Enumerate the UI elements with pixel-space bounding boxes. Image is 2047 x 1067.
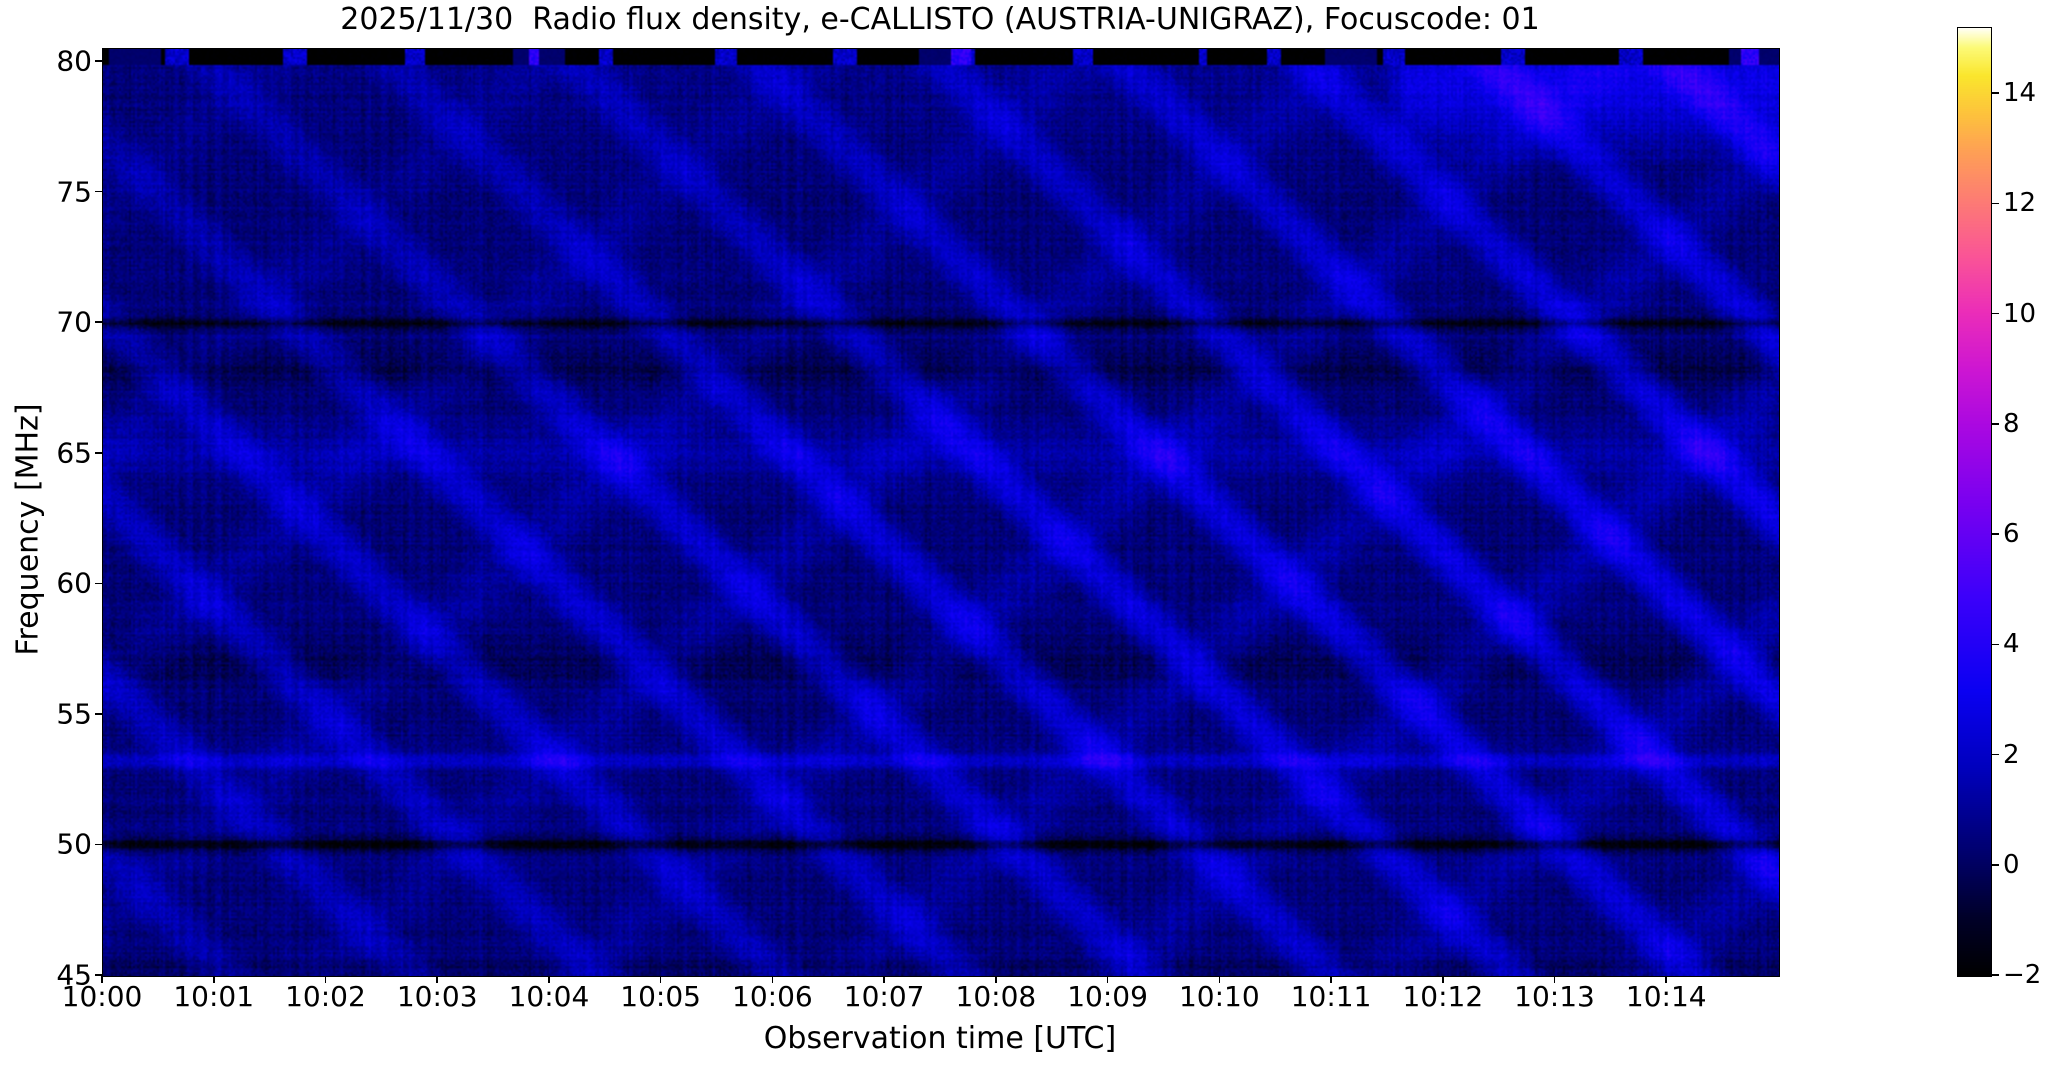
figure-canvas: 2025/11/30 Radio flux density, e-CALLIST… — [0, 0, 2047, 1067]
colorbar-tick-mark — [1992, 423, 1999, 425]
x-tick-mark — [1554, 976, 1556, 983]
x-tick-mark — [213, 976, 215, 983]
x-tick-mark — [883, 976, 885, 983]
spectrogram-axes[interactable] — [102, 48, 1780, 977]
y-tick-mark — [95, 452, 102, 454]
x-tick-mark — [1665, 976, 1667, 983]
y-tick-mark — [95, 321, 102, 323]
colorbar[interactable] — [1957, 27, 1992, 977]
colorbar-tick-label: 4 — [2003, 629, 2020, 659]
x-tick-mark — [1442, 976, 1444, 983]
colorbar-tick-label: 2 — [2003, 740, 2020, 770]
colorbar-tick-label: 10 — [2003, 299, 2036, 329]
x-tick-mark — [995, 976, 997, 983]
colorbar-tick-mark — [1992, 754, 1999, 756]
spectrogram-image — [103, 49, 1779, 976]
colorbar-tick-mark — [1992, 92, 1999, 94]
x-axis-label: Observation time [UTC] — [102, 1021, 1778, 1056]
colorbar-tick-mark — [1992, 974, 1999, 976]
colorbar-tick-label: 14 — [2003, 78, 2036, 108]
colorbar-tick-mark — [1992, 644, 1999, 646]
colorbar-gradient — [1958, 28, 1991, 976]
x-tick-mark — [325, 976, 327, 983]
y-tick-mark — [95, 713, 102, 715]
x-tick-mark — [1219, 976, 1221, 983]
colorbar-tick-mark — [1992, 203, 1999, 205]
x-tick-mark — [436, 976, 438, 983]
colorbar-tick-label: 0 — [2003, 850, 2020, 880]
chart-title: 2025/11/30 Radio flux density, e-CALLIST… — [0, 2, 1880, 37]
x-tick-mark — [1107, 976, 1109, 983]
x-tick-mark — [548, 976, 550, 983]
colorbar-tick-label: −2 — [2003, 960, 2041, 990]
y-axis-label: Frequency [MHz] — [11, 60, 46, 1000]
x-tick-label: 10:14 — [1586, 980, 1746, 1013]
x-tick-mark — [772, 976, 774, 983]
colorbar-tick-mark — [1992, 313, 1999, 315]
y-tick-mark — [95, 191, 102, 193]
colorbar-tick-label: 6 — [2003, 519, 2020, 549]
colorbar-tick-mark — [1992, 533, 1999, 535]
x-tick-mark — [101, 976, 103, 983]
y-tick-mark — [95, 583, 102, 585]
colorbar-tick-mark — [1992, 864, 1999, 866]
x-tick-mark — [660, 976, 662, 983]
x-tick-mark — [1330, 976, 1332, 983]
colorbar-tick-label: 12 — [2003, 188, 2036, 218]
colorbar-tick-label: 8 — [2003, 409, 2020, 439]
y-tick-mark — [95, 60, 102, 62]
y-tick-mark — [95, 844, 102, 846]
